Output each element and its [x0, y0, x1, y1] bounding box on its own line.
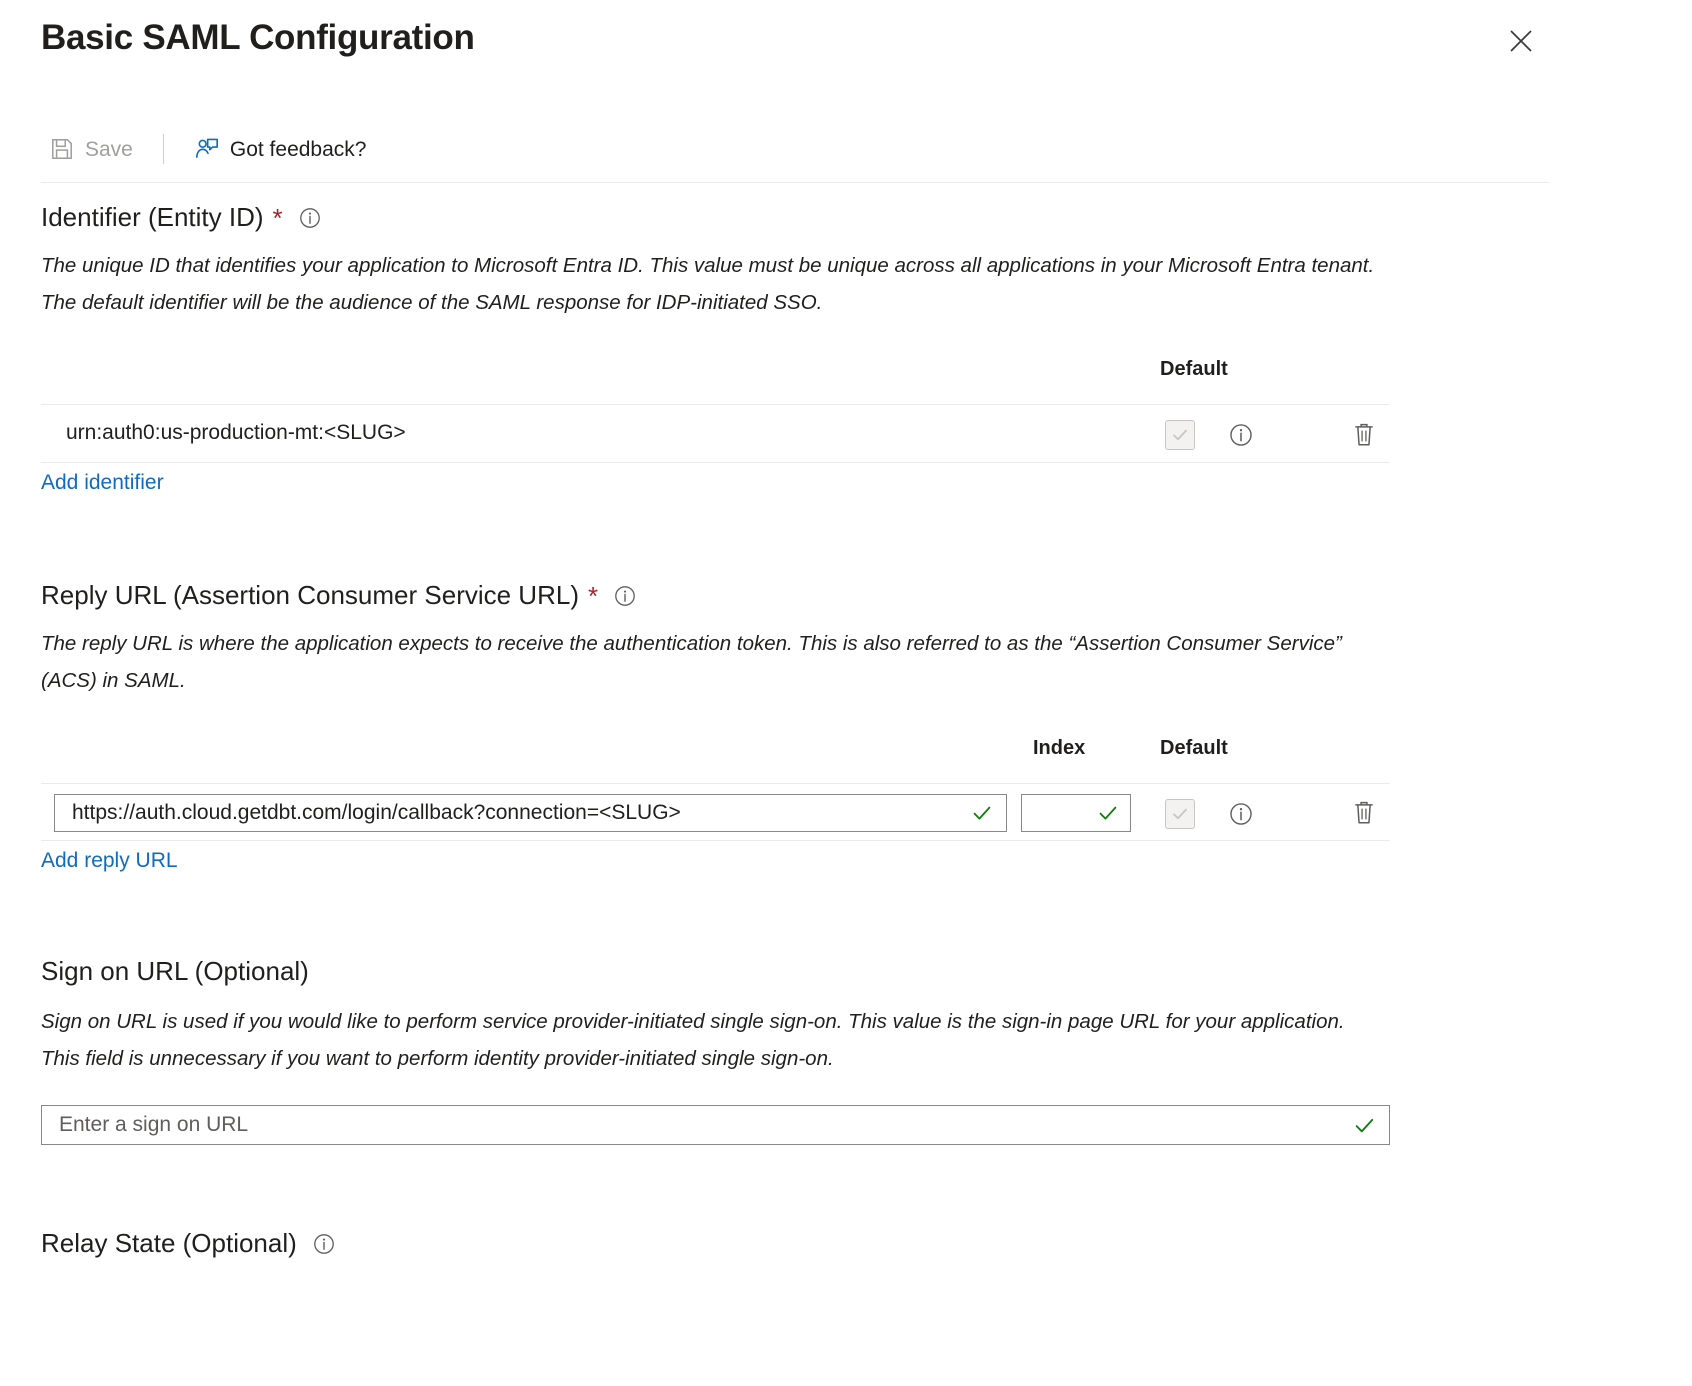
- identifier-row-info-icon[interactable]: [1228, 422, 1254, 448]
- identifier-required-marker: *: [273, 205, 283, 231]
- reply-url-index-input[interactable]: [1021, 794, 1131, 832]
- sign-on-url-input[interactable]: Enter a sign on URL: [41, 1105, 1390, 1145]
- identifier-description: The unique ID that identifies your appli…: [41, 247, 1381, 321]
- reply-url-section-label: Reply URL (Assertion Consumer Service UR…: [41, 580, 636, 611]
- reply-url-input[interactable]: https://auth.cloud.getdbt.com/login/call…: [54, 794, 1007, 832]
- reply-url-table-top-rule: [41, 783, 1390, 784]
- reply-url-info-icon[interactable]: [614, 585, 636, 607]
- reply-url-description: The reply URL is where the application e…: [41, 625, 1361, 699]
- got-feedback-button[interactable]: Got feedback?: [186, 127, 375, 171]
- sign-on-url-description: Sign on URL is used if you would like to…: [41, 1003, 1361, 1077]
- reply-url-required-marker: *: [588, 583, 598, 609]
- command-bar: Save Got feedback?: [41, 124, 374, 174]
- identifier-label-text: Identifier (Entity ID): [41, 202, 264, 233]
- identifier-table-top-rule: [41, 404, 1390, 405]
- relay-state-section-label: Relay State (Optional): [41, 1228, 335, 1259]
- sign-on-url-input-placeholder: Enter a sign on URL: [42, 1113, 1353, 1137]
- identifier-row-trash-icon[interactable]: [1350, 420, 1378, 450]
- reply-url-column-index: Index: [1033, 737, 1085, 760]
- add-reply-url-link[interactable]: Add reply URL: [41, 849, 178, 873]
- reply-url-column-default: Default: [1160, 737, 1228, 760]
- reply-url-valid-checkmark-icon: [971, 802, 1006, 824]
- page-title: Basic SAML Configuration: [41, 18, 475, 58]
- save-button-label: Save: [85, 139, 133, 160]
- save-button[interactable]: Save: [41, 127, 141, 171]
- reply-url-label-text: Reply URL (Assertion Consumer Service UR…: [41, 580, 579, 611]
- blade-header: Basic SAML Configuration: [0, 0, 1692, 92]
- add-identifier-link[interactable]: Add identifier: [41, 471, 164, 495]
- reply-url-default-checkbox[interactable]: [1165, 799, 1195, 829]
- command-bar-separator: [163, 134, 164, 164]
- identifier-info-icon[interactable]: [299, 207, 321, 229]
- sign-on-url-section-label: Sign on URL (Optional): [41, 956, 309, 987]
- basic-saml-configuration-blade: Basic SAML Configuration Save: [0, 0, 1692, 1386]
- reply-url-index-valid-checkmark-icon: [1097, 802, 1130, 824]
- reply-url-input-value: https://auth.cloud.getdbt.com/login/call…: [55, 801, 971, 825]
- identifier-table-bottom-rule: [41, 462, 1390, 463]
- got-feedback-label: Got feedback?: [230, 139, 367, 160]
- underlying-blade-glyph: [0, 196, 4, 211]
- identifier-default-checkbox[interactable]: [1165, 420, 1195, 450]
- reply-url-table-bottom-rule: [41, 840, 1390, 841]
- command-bar-divider: [41, 182, 1549, 183]
- identifier-column-default: Default: [1160, 358, 1228, 381]
- relay-state-label-text: Relay State (Optional): [41, 1228, 297, 1259]
- reply-url-row-info-icon[interactable]: [1228, 801, 1254, 827]
- relay-state-info-icon[interactable]: [313, 1233, 335, 1255]
- close-icon[interactable]: [1498, 18, 1544, 64]
- sign-on-url-label-text: Sign on URL (Optional): [41, 956, 309, 987]
- identifier-section-label: Identifier (Entity ID) *: [41, 202, 321, 233]
- reply-url-row-trash-icon[interactable]: [1350, 798, 1378, 828]
- save-floppy-icon: [49, 136, 75, 162]
- sign-on-url-valid-checkmark-icon: [1353, 1114, 1389, 1137]
- identifier-row-value: urn:auth0:us-production-mt:<SLUG>: [66, 421, 406, 445]
- feedback-person-icon: [194, 136, 220, 162]
